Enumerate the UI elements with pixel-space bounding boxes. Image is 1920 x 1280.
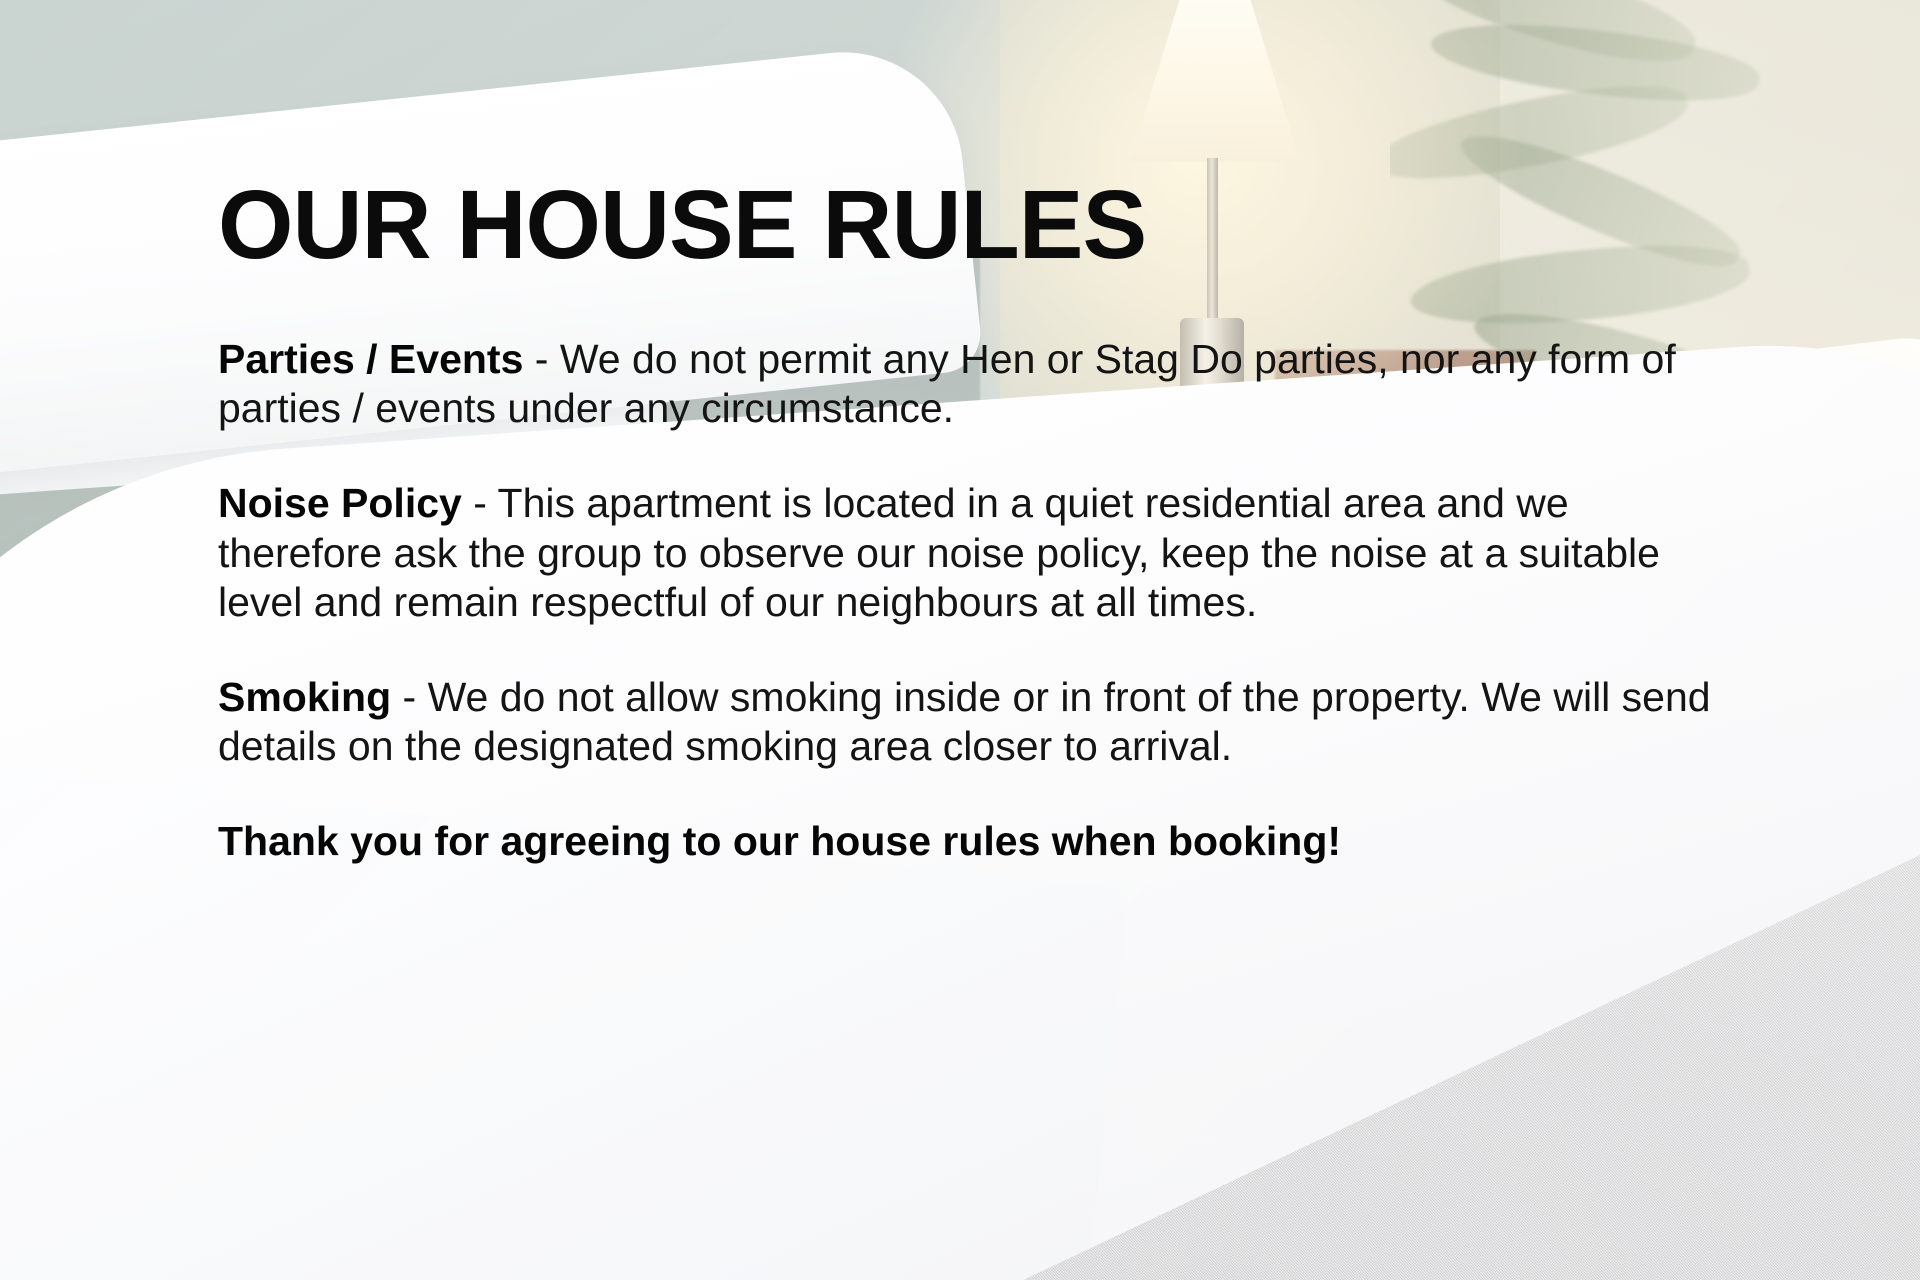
rules-content: OUR HOUSE RULES Parties / Events - We do…	[218, 176, 1718, 867]
rule-smoking-separator: -	[391, 674, 427, 720]
rule-smoking: Smoking - We do not allow smoking inside…	[218, 673, 1718, 771]
rule-smoking-body: We do not allow smoking inside or in fro…	[218, 674, 1711, 769]
rule-parties-events-separator: -	[523, 336, 559, 382]
rule-smoking-lead: Smoking	[218, 674, 391, 720]
rule-parties-events-lead: Parties / Events	[218, 336, 523, 382]
rule-noise-policy-lead: Noise Policy	[218, 480, 462, 526]
rule-parties-events: Parties / Events - We do not permit any …	[218, 335, 1708, 433]
rule-noise-policy-separator: -	[462, 480, 498, 526]
closing-thank-you: Thank you for agreeing to our house rule…	[218, 817, 1718, 866]
rule-noise-policy: Noise Policy - This apartment is located…	[218, 479, 1688, 627]
page-title: OUR HOUSE RULES	[218, 176, 1718, 273]
house-rules-poster: OUR HOUSE RULES Parties / Events - We do…	[0, 0, 1920, 1280]
